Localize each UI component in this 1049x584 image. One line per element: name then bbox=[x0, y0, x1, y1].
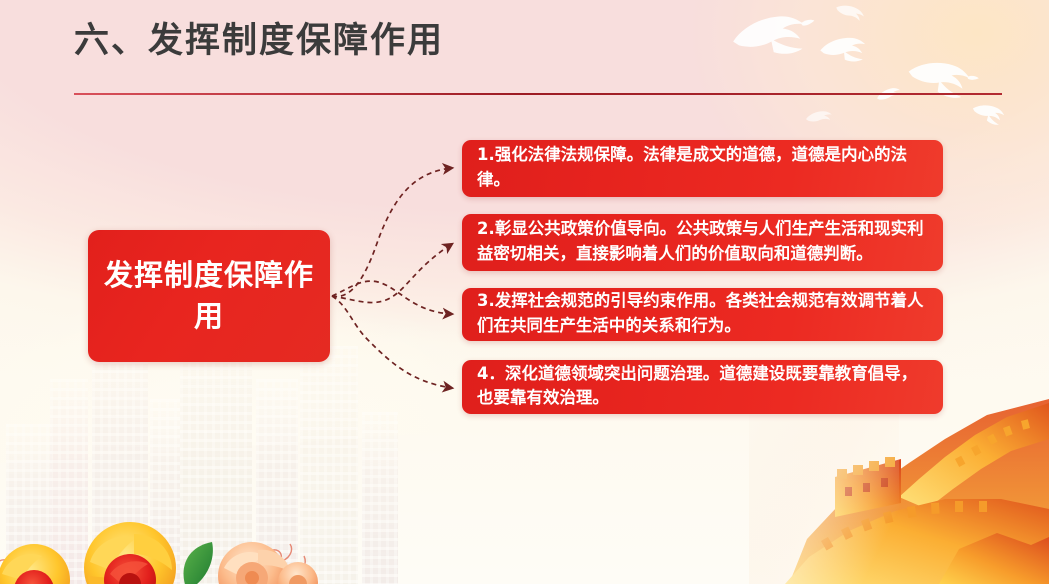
hub-label: 发挥制度保障作用 bbox=[88, 255, 330, 337]
item-box-2[interactable]: 2.彰显公共政策价值导向。公共政策与人们生产生活和现实利益密切相关，直接影响着人… bbox=[462, 214, 943, 271]
page-title: 六、发挥制度保障作用 bbox=[74, 22, 444, 61]
item-text-2: 2.彰显公共政策价值导向。公共政策与人们生产生活和现实利益密切相关，直接影响着人… bbox=[477, 217, 929, 266]
item-text-1: 1.强化法律法规保障。法律是成文的道德，道德是内心的法律。 bbox=[477, 143, 929, 192]
item-box-1[interactable]: 1.强化法律法规保障。法律是成文的道德，道德是内心的法律。 bbox=[462, 140, 943, 197]
slide-canvas: 六、发挥制度保障作用 发挥制度保障作用 1.强化法律法规保障。法律是成文的道德，… bbox=[0, 0, 1049, 584]
item-text-3: 3.发挥社会规范的引导约束作用。各类社会规范有效调节着人们在共同生产生活中的关系… bbox=[477, 289, 929, 338]
hub-box[interactable]: 发挥制度保障作用 bbox=[88, 230, 330, 362]
item-text-4: 4．深化道德领域突出问题治理。道德建设既要靠教育倡导，也要靠有效治理。 bbox=[477, 362, 929, 411]
title-divider bbox=[74, 93, 1002, 95]
item-box-4[interactable]: 4．深化道德领域突出问题治理。道德建设既要靠教育倡导，也要靠有效治理。 bbox=[462, 360, 943, 414]
page-title-text: 六、发挥制度保障作用 bbox=[74, 22, 444, 61]
item-box-3[interactable]: 3.发挥社会规范的引导约束作用。各类社会规范有效调节着人们在共同生产生活中的关系… bbox=[462, 288, 943, 341]
